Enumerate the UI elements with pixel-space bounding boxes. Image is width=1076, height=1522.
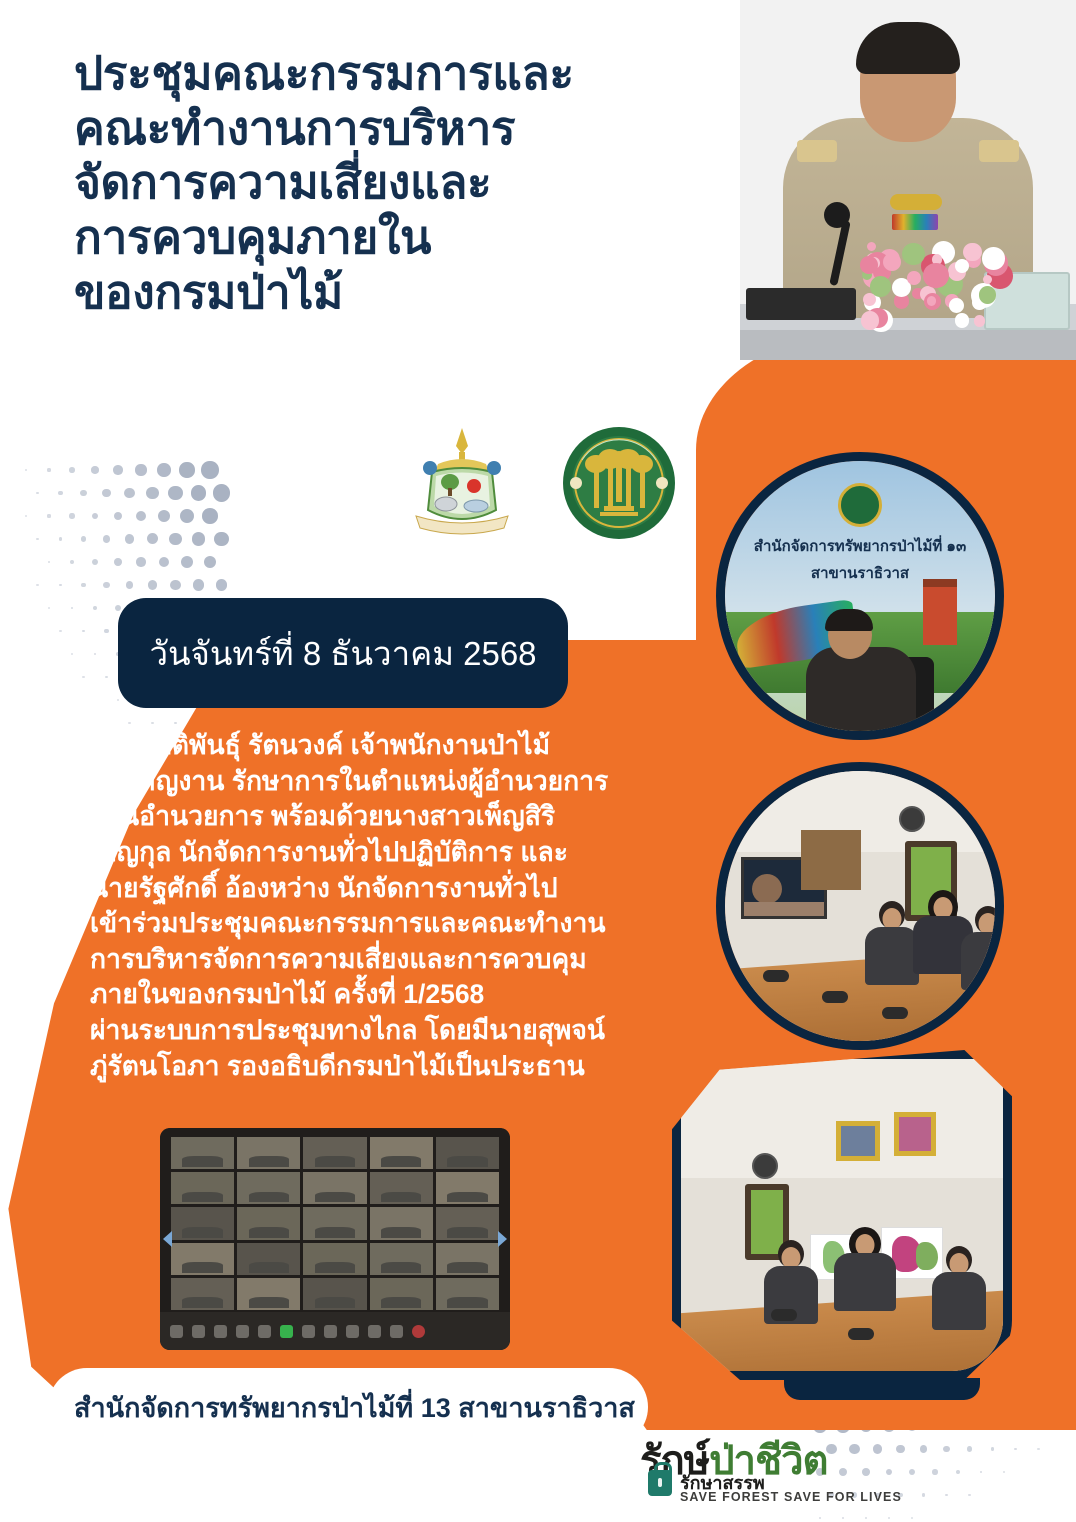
emblem-row xyxy=(402,424,692,544)
toolbar-button[interactable] xyxy=(368,1325,381,1338)
participant-tile xyxy=(370,1172,433,1204)
halftone-dot xyxy=(92,559,98,565)
halftone-dot xyxy=(92,513,99,520)
halftone-dot xyxy=(956,1470,960,1474)
halftone-dot xyxy=(115,605,121,611)
toolbar-button[interactable] xyxy=(324,1325,337,1338)
halftone-dot xyxy=(126,581,134,589)
halftone-dot xyxy=(114,558,122,566)
halftone-dot xyxy=(94,653,97,656)
body-line-9: ผ่านระบบการประชุมทางไกล โดยมีนายสุพจน์ xyxy=(90,1013,730,1049)
body-line-10: ภู่รัตนโอภา รองอธิบดีกรมป่าไม้เป็นประธาน xyxy=(90,1049,730,1085)
halftone-dot xyxy=(136,557,145,566)
halftone-dot xyxy=(82,630,85,633)
halftone-dot xyxy=(25,515,27,517)
halftone-dot xyxy=(59,584,62,587)
flower-petal xyxy=(974,315,985,326)
halftone-dot xyxy=(191,485,207,501)
participant-tile xyxy=(436,1172,499,1204)
halftone-dot xyxy=(114,512,123,521)
halftone-dot xyxy=(105,676,107,678)
halftone-dot xyxy=(1037,1448,1039,1450)
halftone-dot xyxy=(91,466,98,473)
flower-petal xyxy=(982,247,1004,269)
halftone-dot xyxy=(70,560,74,564)
photo-circle-2 xyxy=(716,762,1004,1050)
participant-tile xyxy=(436,1207,499,1239)
logo-word-3: ชีวิต xyxy=(755,1439,828,1483)
halftone-dot xyxy=(888,1517,890,1519)
halftone-dot xyxy=(967,1446,972,1451)
title-line-1: ประชุมคณะกรรมการและ xyxy=(74,46,774,101)
participant-tile xyxy=(237,1243,300,1275)
body-line-5: นายรัฐศักดิ์ อ้องหว่าง นักจัดการงานทั่วไ… xyxy=(90,871,730,907)
halftone-dot xyxy=(102,489,110,497)
body-line-4: เพ็ญกุล นักจัดการงานทั่วไปปฏิบัติการ และ xyxy=(90,835,730,871)
participant-tile xyxy=(303,1172,366,1204)
halftone-dot xyxy=(216,579,228,591)
photo-blob-meeting xyxy=(672,1050,1012,1380)
participant-tile xyxy=(436,1278,499,1310)
flower-petal xyxy=(963,243,981,261)
halftone-dot xyxy=(128,722,130,724)
toolbar-button[interactable] xyxy=(192,1325,205,1338)
halftone-dot xyxy=(180,509,194,523)
halftone-dot xyxy=(193,579,204,590)
halftone-dot xyxy=(147,533,158,544)
flower-petal xyxy=(907,271,921,285)
halftone-dot xyxy=(47,468,50,471)
flower-petal xyxy=(902,243,925,266)
participant-tile xyxy=(237,1172,300,1204)
halftone-dot xyxy=(48,607,50,609)
halftone-dot xyxy=(204,556,217,569)
body-line-8: ภายในของกรมป่าไม้ ครั้งที่ 1/2568 xyxy=(90,977,730,1013)
halftone-dot xyxy=(103,582,109,588)
halftone-dot xyxy=(980,1471,983,1474)
halftone-dot xyxy=(943,1446,950,1453)
halftone-dot xyxy=(80,490,86,496)
halftone-dot xyxy=(81,583,85,587)
flower-petal xyxy=(867,242,876,251)
date-badge: วันจันทร์ที่ 8 ธันวาคม 2568 xyxy=(118,598,568,708)
halftone-dot xyxy=(945,1494,948,1497)
title-line-2: คณะทำงานการบริหาร xyxy=(74,101,774,156)
toolbar-button[interactable] xyxy=(390,1325,403,1338)
halftone-dot xyxy=(103,535,110,542)
halftone-dot xyxy=(968,1494,970,1496)
participant-tile xyxy=(436,1243,499,1275)
participant-tile xyxy=(171,1172,234,1204)
halftone-dot xyxy=(117,699,119,701)
footer-office-label: สำนักจัดการทรัพยากรป่าไม้ที่ 13 สาขานราธ… xyxy=(74,1386,635,1429)
halftone-dot xyxy=(911,1517,913,1519)
ministry-of-natural-resources-emblem xyxy=(402,424,522,544)
title-line-4: การควบคุมภายใน xyxy=(74,210,774,265)
flower-petal xyxy=(983,275,992,284)
halftone-dot xyxy=(69,467,74,472)
halftone-dot xyxy=(93,606,97,610)
halftone-dot xyxy=(151,722,153,724)
halftone-dot xyxy=(174,722,176,724)
halftone-dot xyxy=(36,538,38,540)
body-line-1: นายกิตติพันธุ์ รัตนวงค์ เจ้าพนักงานป่าไม… xyxy=(90,728,730,764)
participant-tile xyxy=(237,1278,300,1310)
halftone-dot xyxy=(159,557,170,568)
participant-tile xyxy=(171,1278,234,1310)
halftone-dot xyxy=(25,469,27,471)
participant-tile xyxy=(237,1137,300,1169)
toolbar-button[interactable] xyxy=(214,1325,227,1338)
participant-tile xyxy=(370,1243,433,1275)
backdrop-line-1: สำนักจัดการทรัพยากรป่าไม้ที่ ๑๓ xyxy=(725,534,995,558)
participant-tile xyxy=(303,1207,366,1239)
halftone-dot xyxy=(148,580,157,589)
poster-canvas: ประชุมคณะกรรมการและ คณะทำงานการบริหาร จั… xyxy=(0,0,1076,1522)
halftone-dot xyxy=(201,461,218,478)
body-paragraph: นายกิตติพันธุ์ รัตนวงค์ เจ้าพนักงานป่าไม… xyxy=(90,728,730,1084)
halftone-dot xyxy=(991,1447,995,1451)
flower-petal xyxy=(949,298,964,313)
participant-tile xyxy=(370,1137,433,1169)
hero-photo-chairman xyxy=(740,0,1076,360)
halftone-dot xyxy=(48,561,50,563)
flower-petal xyxy=(955,313,969,327)
participant-tile xyxy=(237,1207,300,1239)
halftone-dot xyxy=(71,607,74,610)
halftone-dot xyxy=(136,511,147,522)
body-line-2: ชำนาญงาน รักษาการในตำแหน่งผู้อำนวยการ xyxy=(90,764,730,800)
toolbar-button[interactable] xyxy=(346,1325,359,1338)
save-forest-logo: รักษ์ป่าชีวิต รักษาสรรพ SAVE FOREST SAVE… xyxy=(640,1428,940,1512)
halftone-dot xyxy=(179,462,194,477)
halftone-dot xyxy=(865,1517,867,1519)
halftone-dot xyxy=(135,464,146,475)
halftone-dot xyxy=(59,630,61,632)
participant-tile xyxy=(370,1278,433,1310)
toolbar-button[interactable] xyxy=(258,1325,271,1338)
halftone-dot xyxy=(192,532,206,546)
participant-tile xyxy=(303,1278,366,1310)
halftone-dot xyxy=(842,1517,845,1520)
body-line-3: ส่วนอำนวยการ พร้อมด้วยนางสาวเพ็ญสิริ xyxy=(90,799,730,835)
participant-tile xyxy=(171,1243,234,1275)
footer-office-pill: สำนักจัดการทรัพยากรป่าไม้ที่ 13 สาขานราธ… xyxy=(48,1368,648,1446)
photo-circle-1: สำนักจัดการทรัพยากรป่าไม้ที่ ๑๓ สาขานราธ… xyxy=(716,452,1004,740)
flower-petal xyxy=(923,263,949,289)
title-line-3: จัดการความเสี่ยงและ xyxy=(74,155,774,210)
participant-tile xyxy=(171,1207,234,1239)
flower-petal xyxy=(861,311,879,329)
flower-petal xyxy=(955,259,969,273)
next-page-arrow-icon xyxy=(498,1231,507,1247)
page-title: ประชุมคณะกรรมการและ คณะทำงานการบริหาร จั… xyxy=(74,46,774,320)
prev-page-arrow-icon xyxy=(163,1231,172,1247)
halftone-dot xyxy=(1014,1448,1017,1451)
logo-sub-english: SAVE FOREST SAVE FOR LIVES xyxy=(680,1490,902,1504)
halftone-dot xyxy=(169,533,182,546)
halftone-dot xyxy=(36,584,38,586)
halftone-dot xyxy=(125,534,134,543)
halftone-dot xyxy=(146,487,158,499)
toolbar-button[interactable] xyxy=(412,1325,425,1338)
lock-icon xyxy=(648,1470,672,1496)
meeting-toolbar xyxy=(160,1312,510,1350)
halftone-dot xyxy=(69,513,74,518)
halftone-dot xyxy=(181,556,193,568)
royal-forest-department-seal xyxy=(560,424,678,542)
participant-tile xyxy=(303,1243,366,1275)
photo-zoom-grid xyxy=(160,1128,510,1350)
halftone-dot xyxy=(158,510,171,523)
halftone-dot xyxy=(71,653,73,655)
toolbar-button[interactable] xyxy=(236,1325,249,1338)
halftone-dot xyxy=(113,465,122,474)
navy-accent-tab xyxy=(784,1378,980,1400)
participant-tile xyxy=(370,1207,433,1239)
body-line-6: เข้าร่วมประชุมคณะกรรมการและคณะทำงาน xyxy=(90,906,730,942)
halftone-dot xyxy=(168,486,182,500)
halftone-dot xyxy=(124,488,134,498)
halftone-dot xyxy=(82,676,84,678)
halftone-dot xyxy=(104,629,108,633)
participant-tile xyxy=(171,1137,234,1169)
halftone-dot xyxy=(59,537,63,541)
flower-petal xyxy=(870,276,891,297)
flower-petal xyxy=(927,296,937,306)
halftone-dot xyxy=(47,514,50,517)
date-badge-text: วันจันทร์ที่ 8 ธันวาคม 2568 xyxy=(149,627,536,680)
halftone-dot xyxy=(819,1517,822,1520)
backdrop-seal-icon xyxy=(838,483,882,527)
title-line-5: ของกรมป่าไม้ xyxy=(74,265,774,320)
participant-tile xyxy=(436,1137,499,1169)
halftone-dot xyxy=(58,491,62,495)
halftone-dot xyxy=(213,484,230,501)
toolbar-button[interactable] xyxy=(302,1325,315,1338)
halftone-dot xyxy=(214,532,229,547)
body-line-7: การบริหารจัดการความเสี่ยงและการควบคุม xyxy=(90,942,730,978)
toolbar-button[interactable] xyxy=(170,1325,183,1338)
halftone-dot xyxy=(202,508,218,524)
halftone-dot xyxy=(170,580,180,590)
halftone-dot xyxy=(157,463,170,476)
halftone-dot xyxy=(1003,1471,1005,1473)
halftone-dot xyxy=(36,492,38,494)
halftone-dot xyxy=(81,536,87,542)
participant-tile xyxy=(303,1137,366,1169)
flower-petal xyxy=(883,253,902,272)
toolbar-button[interactable] xyxy=(280,1325,293,1338)
